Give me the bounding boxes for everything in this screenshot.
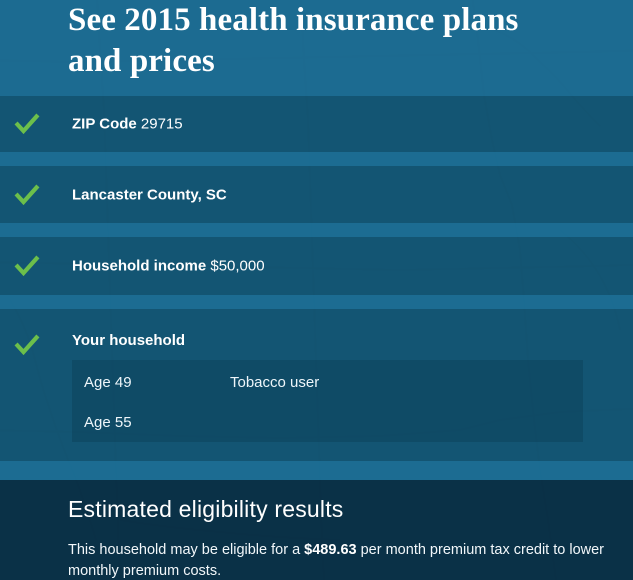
row-county-text: Lancaster County, SC xyxy=(72,186,227,203)
row-zip-code-text: ZIP Code 29715 xyxy=(72,116,183,133)
health-insurance-estimator-page: See 2015 health insurance plans and pric… xyxy=(0,0,633,580)
row-divider-4 xyxy=(0,461,633,480)
row-your-household-label: Your household xyxy=(72,332,185,349)
row-divider-1 xyxy=(0,152,633,166)
row-county[interactable]: Lancaster County, SC xyxy=(0,166,633,223)
household-member-age-2: Age 55 xyxy=(84,414,132,431)
row-divider-3 xyxy=(0,295,633,309)
row-zip-code[interactable]: ZIP Code 29715 xyxy=(0,96,633,152)
row-your-household-text: Your household xyxy=(72,332,185,349)
row-household-income-value: $50,000 xyxy=(210,258,264,275)
household-member-tobacco-1: Tobacco user xyxy=(230,374,319,391)
results-body: This household may be eligible for a $48… xyxy=(68,540,626,580)
row-household-income-text: Household income $50,000 xyxy=(72,258,265,275)
row-zip-code-value: 29715 xyxy=(141,116,183,133)
row-zip-code-label: ZIP Code xyxy=(72,116,137,133)
row-county-label: Lancaster County, SC xyxy=(72,186,227,203)
row-household-income[interactable]: Household income $50,000 xyxy=(0,237,633,295)
page-header: See 2015 health insurance plans and pric… xyxy=(0,0,633,96)
results-amount: $489.63 xyxy=(304,542,356,558)
row-household-income-label: Household income xyxy=(72,258,206,275)
row-divider-2 xyxy=(0,223,633,237)
results-title: Estimated eligibility results xyxy=(68,496,344,523)
check-icon xyxy=(14,182,40,208)
check-icon xyxy=(14,332,40,358)
household-member-age-1: Age 49 xyxy=(84,374,132,391)
page-title: See 2015 health insurance plans and pric… xyxy=(68,0,548,82)
results-text-before: This household may be eligible for a xyxy=(68,542,304,558)
household-members-box: Age 49 Tobacco user Age 55 xyxy=(72,360,583,442)
check-icon xyxy=(14,111,40,137)
check-icon xyxy=(14,253,40,279)
